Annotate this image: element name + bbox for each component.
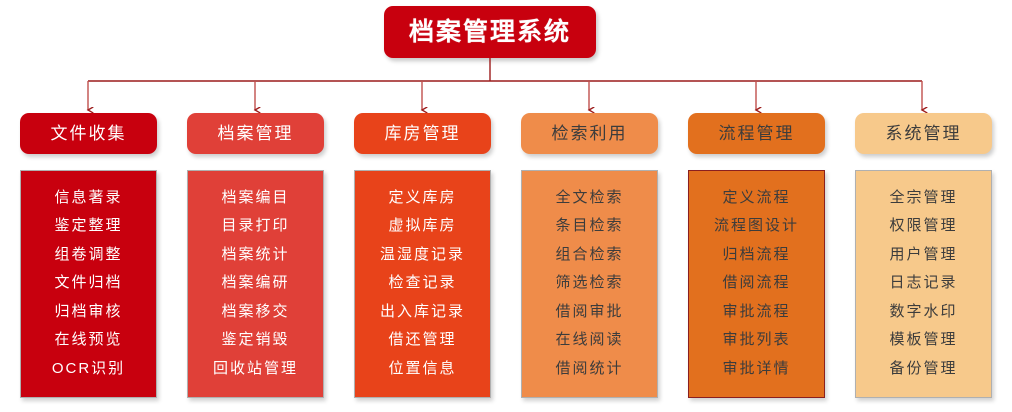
column-header-process-management[interactable]: 流程管理 — [688, 113, 825, 154]
list-item[interactable]: 在线阅读 — [555, 326, 623, 355]
list-item[interactable]: 借阅审批 — [555, 298, 623, 327]
list-item[interactable]: 检查记录 — [388, 269, 456, 298]
list-item[interactable]: 借阅统计 — [555, 355, 623, 384]
list-item[interactable]: 定义流程 — [722, 184, 790, 213]
list-item[interactable]: 筛选检索 — [555, 269, 623, 298]
list-item[interactable]: 档案编研 — [221, 269, 289, 298]
list-item[interactable]: 审批流程 — [722, 298, 790, 327]
list-item[interactable]: 温湿度记录 — [380, 241, 465, 270]
list-item[interactable]: 档案移交 — [221, 298, 289, 327]
column-header-label: 检索利用 — [552, 125, 628, 142]
column-header-warehouse-management[interactable]: 库房管理 — [354, 113, 491, 154]
column-warehouse-management: 库房管理定义库房虚拟库房温湿度记录检查记录出入库记录借还管理位置信息 — [354, 113, 491, 154]
root-node-label: 档案管理系统 — [409, 20, 571, 45]
list-item[interactable]: 流程图设计 — [714, 212, 799, 241]
column-archive-management: 档案管理档案编目目录打印档案统计档案编研档案移交鉴定销毁回收站管理 — [187, 113, 324, 154]
list-item[interactable]: 条目检索 — [555, 212, 623, 241]
column-header-file-collection[interactable]: 文件收集 — [20, 113, 157, 154]
org-chart-diagram: 档案管理系统 文件收集信息著录鉴定整理组卷调整文件归档归档审核在线预览OCR识别… — [0, 0, 1012, 412]
list-item[interactable]: 鉴定销毁 — [221, 326, 289, 355]
column-retrieval-utilization: 检索利用全文检索条目检索组合检索筛选检索借阅审批在线阅读借阅统计 — [521, 113, 658, 154]
list-item[interactable]: 档案统计 — [221, 241, 289, 270]
list-item[interactable]: 回收站管理 — [213, 355, 298, 384]
list-item[interactable]: 借阅流程 — [722, 269, 790, 298]
list-item[interactable]: 鉴定整理 — [54, 212, 122, 241]
column-body-archive-management: 档案编目目录打印档案统计档案编研档案移交鉴定销毁回收站管理 — [187, 170, 324, 398]
column-header-label: 文件收集 — [51, 125, 127, 142]
list-item[interactable]: 模板管理 — [889, 326, 957, 355]
column-header-archive-management[interactable]: 档案管理 — [187, 113, 324, 154]
list-item[interactable]: 归档审核 — [54, 298, 122, 327]
column-header-label: 流程管理 — [719, 125, 795, 142]
list-item[interactable]: 出入库记录 — [380, 298, 465, 327]
column-body-file-collection: 信息著录鉴定整理组卷调整文件归档归档审核在线预览OCR识别 — [20, 170, 157, 398]
list-item[interactable]: 全宗管理 — [889, 184, 957, 213]
list-item[interactable]: 审批列表 — [722, 326, 790, 355]
list-item[interactable]: 数字水印 — [889, 298, 957, 327]
list-item[interactable]: 在线预览 — [54, 326, 122, 355]
column-body-retrieval-utilization: 全文检索条目检索组合检索筛选检索借阅审批在线阅读借阅统计 — [521, 170, 658, 398]
column-header-retrieval-utilization[interactable]: 检索利用 — [521, 113, 658, 154]
column-body-system-management: 全宗管理权限管理用户管理日志记录数字水印模板管理备份管理 — [855, 170, 992, 398]
list-item[interactable]: 目录打印 — [221, 212, 289, 241]
column-header-label: 库房管理 — [385, 125, 461, 142]
list-item[interactable]: 文件归档 — [54, 269, 122, 298]
list-item[interactable]: 备份管理 — [889, 355, 957, 384]
column-header-system-management[interactable]: 系统管理 — [855, 113, 992, 154]
root-node[interactable]: 档案管理系统 — [384, 6, 596, 58]
list-item[interactable]: 信息著录 — [54, 184, 122, 213]
list-item[interactable]: 借还管理 — [388, 326, 456, 355]
list-item[interactable]: 定义库房 — [388, 184, 456, 213]
list-item[interactable]: 组合检索 — [555, 241, 623, 270]
list-item[interactable]: OCR识别 — [52, 355, 125, 384]
list-item[interactable]: 用户管理 — [889, 241, 957, 270]
column-system-management: 系统管理全宗管理权限管理用户管理日志记录数字水印模板管理备份管理 — [855, 113, 992, 154]
column-process-management: 流程管理定义流程流程图设计归档流程借阅流程审批流程审批列表审批详情 — [688, 113, 825, 154]
list-item[interactable]: 位置信息 — [388, 355, 456, 384]
column-header-label: 系统管理 — [886, 125, 962, 142]
list-item[interactable]: 审批详情 — [722, 355, 790, 384]
list-item[interactable]: 档案编目 — [221, 184, 289, 213]
column-header-label: 档案管理 — [218, 125, 294, 142]
list-item[interactable]: 日志记录 — [889, 269, 957, 298]
list-item[interactable]: 全文检索 — [555, 184, 623, 213]
column-body-process-management: 定义流程流程图设计归档流程借阅流程审批流程审批列表审批详情 — [688, 170, 825, 398]
column-file-collection: 文件收集信息著录鉴定整理组卷调整文件归档归档审核在线预览OCR识别 — [20, 113, 157, 154]
list-item[interactable]: 虚拟库房 — [388, 212, 456, 241]
column-body-warehouse-management: 定义库房虚拟库房温湿度记录检查记录出入库记录借还管理位置信息 — [354, 170, 491, 398]
list-item[interactable]: 组卷调整 — [54, 241, 122, 270]
list-item[interactable]: 权限管理 — [889, 212, 957, 241]
list-item[interactable]: 归档流程 — [722, 241, 790, 270]
